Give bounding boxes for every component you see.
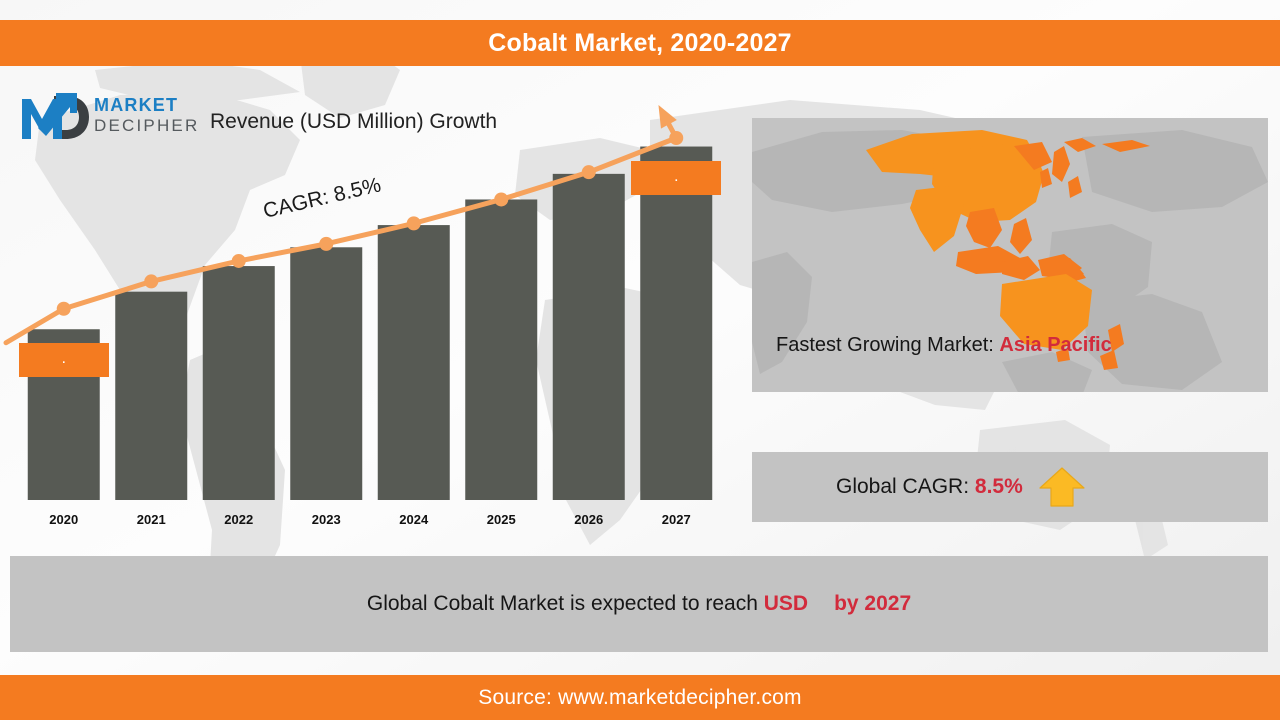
- bars-layer: [28, 147, 713, 500]
- revenue-bar-chart: CAGR: 8.5%: [0, 100, 740, 540]
- trend-point-2022: [232, 254, 246, 268]
- x-axis-label-2022: 2022: [199, 512, 279, 527]
- footer-bar: Source: www.marketdecipher.com: [0, 675, 1280, 720]
- fastest-label: Fastest Growing Market:: [776, 334, 999, 356]
- chart-canvas: CAGR: 8.5%: [0, 100, 740, 540]
- x-axis-label-2023: 2023: [286, 512, 366, 527]
- global-cagr-label: Global CAGR:: [836, 475, 975, 498]
- bar-2023: [290, 247, 362, 500]
- header-bar: Cobalt Market, 2020-2027: [0, 20, 1280, 66]
- market-statement-text: Global Cobalt Market is expected to reac…: [367, 592, 911, 616]
- value-label-2020: .: [19, 343, 109, 377]
- page-title: Cobalt Market, 2020-2027: [488, 29, 792, 58]
- trend-point-2026: [582, 165, 596, 179]
- trend-point-2024: [407, 216, 421, 230]
- cagr-annotation: CAGR: 8.5%: [261, 173, 383, 222]
- trend-point-2023: [319, 237, 333, 251]
- footer-source: Source: www.marketdecipher.com: [478, 686, 801, 710]
- global-cagr-panel: Global CAGR: 8.5%: [752, 452, 1268, 522]
- bar-2025: [465, 199, 537, 500]
- global-cagr-text: Global CAGR: 8.5%: [836, 475, 1023, 499]
- up-arrow-icon: [1039, 466, 1085, 508]
- statement-unit: USD: [764, 592, 808, 615]
- x-axis-label-2025: 2025: [461, 512, 541, 527]
- cagr-annotation-layer: CAGR: 8.5%: [261, 173, 383, 222]
- statement-suffix: by 2027: [834, 592, 911, 615]
- bar-2024: [378, 225, 450, 500]
- bar-2021: [115, 292, 187, 500]
- fastest-growing-market-panel: Fastest Growing Market: Asia Pacific: [752, 118, 1268, 392]
- value-label-2027: .: [631, 161, 721, 195]
- x-axis-label-2027: 2027: [636, 512, 716, 527]
- bar-2022: [203, 266, 275, 500]
- bar-2027: [640, 147, 712, 500]
- bar-2026: [553, 174, 625, 500]
- x-axis-label-2021: 2021: [111, 512, 191, 527]
- market-statement-panel: Global Cobalt Market is expected to reac…: [10, 556, 1268, 652]
- trend-point-2025: [494, 192, 508, 206]
- fastest-growing-market-caption: Fastest Growing Market: Asia Pacific: [776, 334, 1112, 357]
- x-axis-label-2026: 2026: [549, 512, 629, 527]
- infographic-root: Cobalt Market, 2020-2027 MARKET DECIPHER…: [0, 0, 1280, 720]
- x-axis-label-2020: 2020: [24, 512, 104, 527]
- trend-point-2027: [669, 131, 683, 145]
- global-cagr-value: 8.5%: [975, 475, 1023, 498]
- x-axis-label-2024: 2024: [374, 512, 454, 527]
- statement-prefix: Global Cobalt Market is expected to reac…: [367, 592, 764, 615]
- fastest-value: Asia Pacific: [999, 334, 1111, 356]
- trend-point-2020: [57, 302, 71, 316]
- trend-point-2021: [144, 274, 158, 288]
